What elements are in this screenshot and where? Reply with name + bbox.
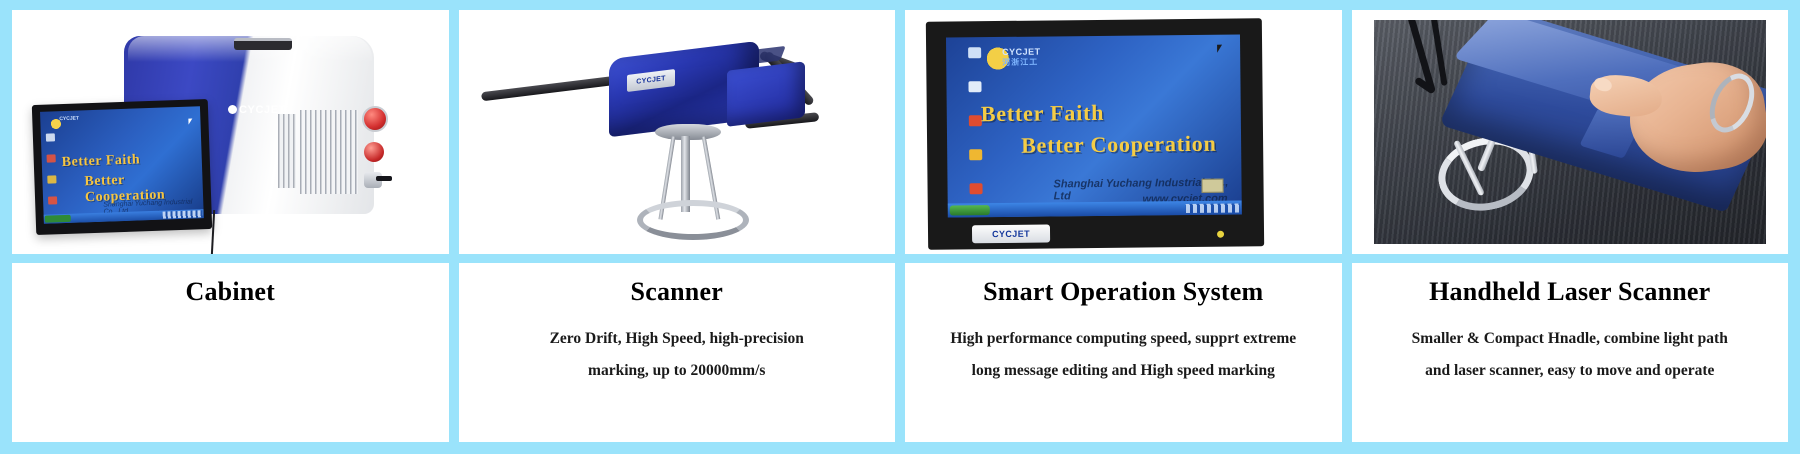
scanner-photo-card: CYCJET	[459, 10, 896, 254]
panel-handheld-laser-scanner: Handheld Laser Scanner Smaller & Compact…	[1352, 10, 1789, 442]
scanner-description-line: Zero Drift, High Speed, high-precision	[550, 323, 804, 355]
scanner-description-line: marking, up to 20000mm/s	[550, 355, 804, 387]
monitor-power-led	[1217, 231, 1224, 238]
desktop-icon	[969, 149, 982, 160]
mouse-cursor-icon	[1217, 45, 1222, 53]
product-feature-board: CYCJET CYCJET	[0, 0, 1800, 454]
smart-operation-description-line: long message editing and High speed mark…	[950, 355, 1296, 387]
panel-scanner: CYCJET Scanner Zero Drift, High Speed, h…	[459, 10, 896, 442]
handheld-photo	[1352, 10, 1789, 254]
screen-headline-1: Better Faith	[62, 152, 141, 171]
cabinet-photo: CYCJET CYCJET	[12, 10, 449, 254]
cabinet-photo-card: CYCJET CYCJET	[12, 10, 449, 254]
desktop-icons	[968, 47, 988, 217]
desktop-icon	[970, 183, 983, 194]
key-switch[interactable]	[364, 172, 382, 188]
screen-headline-1: Better Faith	[981, 100, 1105, 127]
stand-base-ring	[637, 200, 749, 240]
scanner-photo: CYCJET	[459, 10, 896, 254]
screen-system-tray	[1186, 203, 1240, 213]
cycjet-logo-cabinet: CYCJET	[228, 104, 286, 116]
smart-operation-caption-card: Smart Operation System High performance …	[905, 263, 1342, 442]
cycjet-wordmark: CYCJET	[239, 104, 286, 116]
cabinet-vent-right	[300, 110, 358, 194]
screen-logo-subtext: 河浙江工	[1002, 57, 1038, 68]
screen-system-tray	[163, 210, 203, 218]
smart-operation-photo-card: CYCJET 河浙江工 Better Faith Better Cooperat…	[905, 10, 1342, 254]
desktop-icon	[968, 81, 981, 92]
screen-logo-text: CYCJET	[1002, 47, 1041, 57]
scanner-cable-left	[480, 76, 616, 102]
desktop-icon	[47, 154, 56, 162]
handheld-photo-card	[1352, 10, 1789, 254]
screen-taskbar	[44, 209, 204, 224]
scanner-caption-card: Scanner Zero Drift, High Speed, high-pre…	[459, 263, 896, 442]
screen-dialog-box	[1201, 179, 1223, 193]
monitor-brand-text: CYCJET	[972, 224, 1050, 243]
cabinet-monitor-screen: CYCJET Better Faith Better Cooperation S…	[40, 106, 204, 224]
scanner-title: Scanner	[631, 277, 723, 307]
cycjet-mark-icon	[228, 105, 237, 114]
handheld-scene	[1374, 20, 1767, 244]
screen-taskbar	[948, 200, 1242, 217]
handheld-description-line: Smaller & Compact Hnadle, combine light …	[1412, 323, 1728, 355]
smart-operation-description: High performance computing speed, supprt…	[950, 323, 1296, 387]
panel-cabinet: CYCJET CYCJET	[12, 10, 449, 442]
smart-operation-photo: CYCJET 河浙江工 Better Faith Better Cooperat…	[905, 10, 1342, 254]
desktop-icon	[968, 47, 981, 58]
screen-headline-2: Better Cooperation	[1021, 131, 1217, 159]
desktop-icons	[46, 133, 61, 217]
handheld-description: Smaller & Compact Hnadle, combine light …	[1412, 323, 1728, 387]
screen-logo-text: CYCJET	[59, 115, 79, 122]
screen-cycjet-logo-icon: CYCJET	[48, 115, 82, 130]
handheld-title: Handheld Laser Scanner	[1429, 277, 1710, 307]
smart-operation-title: Smart Operation System	[983, 277, 1263, 307]
emergency-stop-button[interactable]	[362, 106, 388, 132]
operator-monitor: CYCJET 河浙江工 Better Faith Better Cooperat…	[926, 18, 1264, 250]
indicator-lamp	[364, 142, 384, 162]
cabinet-monitor: CYCJET Better Faith Better Cooperation S…	[32, 99, 212, 235]
hanging-cable	[1430, 20, 1447, 86]
desktop-icon	[46, 133, 55, 141]
mouse-cursor-icon	[188, 119, 192, 125]
screen-cycjet-logo-icon: CYCJET 河浙江工	[982, 45, 1042, 72]
cabinet-caption-card: Cabinet	[12, 263, 449, 442]
scanner-output-snout	[727, 61, 805, 127]
panel-smart-operation-system: CYCJET 河浙江工 Better Faith Better Cooperat…	[905, 10, 1342, 442]
cabinet-vent-left	[278, 114, 296, 188]
operator-monitor-screen: CYCJET 河浙江工 Better Faith Better Cooperat…	[946, 34, 1242, 217]
monitor-brand-badge: CYCJET	[972, 224, 1050, 243]
cabinet-handle	[234, 38, 292, 50]
scanner-description: Zero Drift, High Speed, high-precision m…	[550, 323, 804, 387]
handheld-description-line: and laser scanner, easy to move and oper…	[1412, 355, 1728, 387]
desktop-icon	[48, 196, 57, 204]
start-button[interactable]	[950, 205, 990, 215]
handheld-caption-card: Handheld Laser Scanner Smaller & Compact…	[1352, 263, 1789, 442]
cabinet-title: Cabinet	[185, 277, 275, 307]
desktop-icon	[47, 175, 56, 183]
smart-operation-description-line: High performance computing speed, supprt…	[950, 323, 1296, 355]
